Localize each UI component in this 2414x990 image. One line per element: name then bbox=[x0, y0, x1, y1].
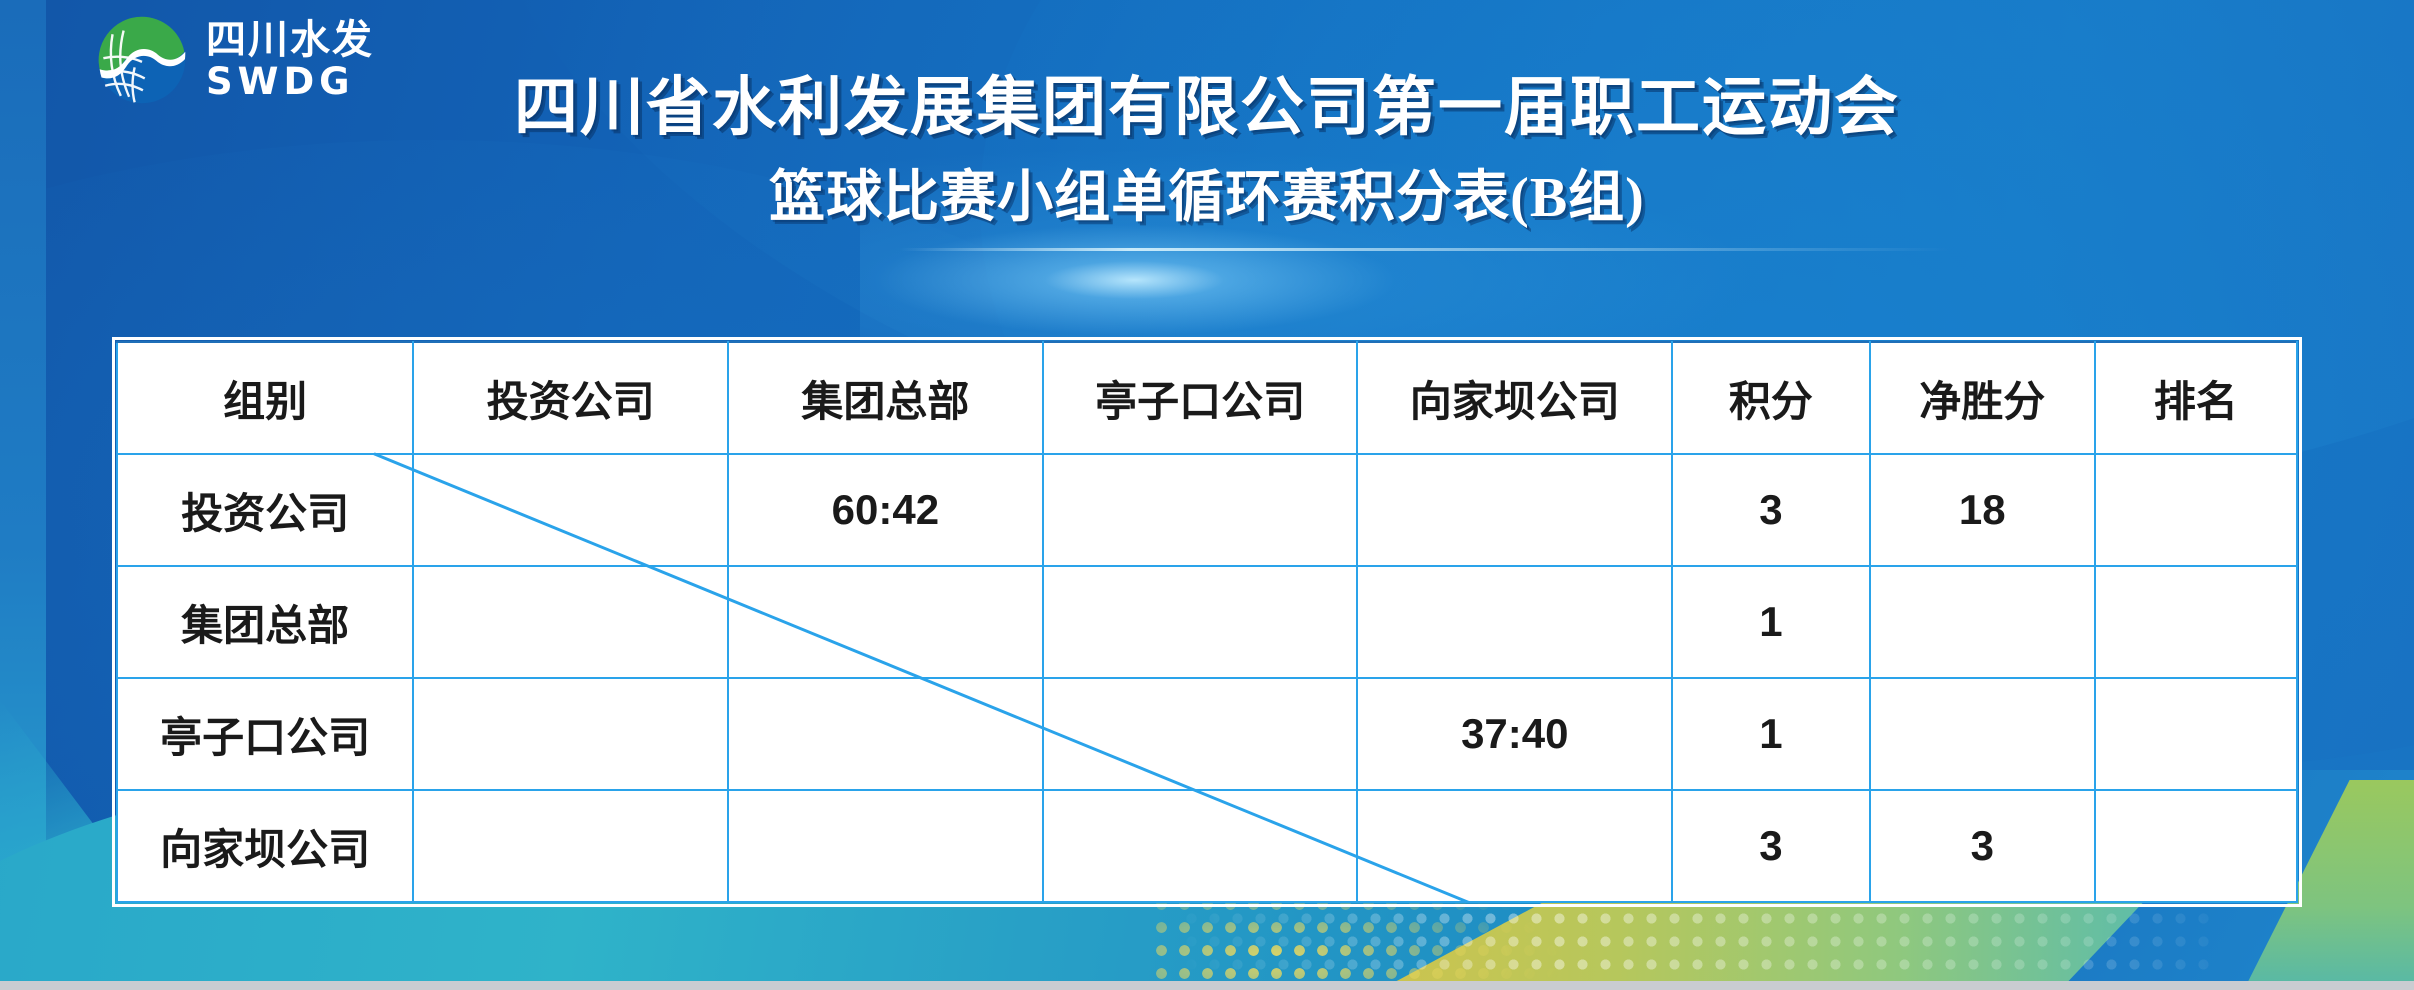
cell-rank bbox=[2095, 790, 2297, 902]
col-header-rank: 排名 bbox=[2095, 342, 2297, 454]
cell-vs-xiangjiaba bbox=[1357, 454, 1672, 566]
cell-vs-investment bbox=[413, 566, 728, 678]
cell-vs-hq bbox=[728, 790, 1043, 902]
table-header-row: 组别 投资公司 集团总部 亭子口公司 向家坝公司 积分 净胜分 排名 bbox=[117, 342, 2297, 454]
col-header-tingzikou: 亭子口公司 bbox=[1043, 342, 1358, 454]
cell-vs-tingzikou bbox=[1043, 454, 1358, 566]
logo-wordmark: 四川水发 SWDG bbox=[206, 20, 374, 101]
col-header-investment: 投资公司 bbox=[413, 342, 728, 454]
poster-stage: 四川水发 SWDG 四川省水利发展集团有限公司第一届职工运动会 篮球比赛小组单循… bbox=[0, 0, 2414, 990]
cell-vs-investment bbox=[413, 790, 728, 902]
row-group-name: 投资公司 bbox=[117, 454, 413, 566]
row-group-name: 向家坝公司 bbox=[117, 790, 413, 902]
col-header-points: 积分 bbox=[1672, 342, 1870, 454]
cell-vs-investment bbox=[413, 454, 728, 566]
cell-vs-hq bbox=[728, 566, 1043, 678]
cell-points: 1 bbox=[1672, 566, 1870, 678]
background-light-ray bbox=[900, 248, 1950, 251]
cell-vs-xiangjiaba: 37:40 bbox=[1357, 678, 1672, 790]
cell-point-diff: 3 bbox=[1870, 790, 2095, 902]
col-header-hq: 集团总部 bbox=[728, 342, 1043, 454]
company-logo: 四川水发 SWDG bbox=[96, 14, 374, 106]
table-row: 亭子口公司 37:40 1 bbox=[117, 678, 2297, 790]
cell-rank bbox=[2095, 566, 2297, 678]
table-row: 集团总部 1 bbox=[117, 566, 2297, 678]
cell-point-diff: 18 bbox=[1870, 454, 2095, 566]
bottom-rule bbox=[0, 981, 2414, 990]
standings-table: 组别 投资公司 集团总部 亭子口公司 向家坝公司 积分 净胜分 排名 投资公司 … bbox=[116, 341, 2298, 903]
table-row: 向家坝公司 3 3 bbox=[117, 790, 2297, 902]
poster-subtitle: 篮球比赛小组单循环赛积分表(B组) bbox=[0, 168, 2414, 230]
cell-vs-tingzikou bbox=[1043, 678, 1358, 790]
globe-wave-logo-icon bbox=[96, 14, 188, 106]
cell-point-diff bbox=[1870, 566, 2095, 678]
cell-vs-tingzikou bbox=[1043, 790, 1358, 902]
row-group-name: 亭子口公司 bbox=[117, 678, 413, 790]
cell-rank bbox=[2095, 454, 2297, 566]
cell-points: 1 bbox=[1672, 678, 1870, 790]
cell-points: 3 bbox=[1672, 454, 1870, 566]
cell-vs-xiangjiaba bbox=[1357, 566, 1672, 678]
cell-vs-investment bbox=[413, 678, 728, 790]
col-header-xiangjiaba: 向家坝公司 bbox=[1357, 342, 1672, 454]
cell-rank bbox=[2095, 678, 2297, 790]
col-header-group: 组别 bbox=[117, 342, 413, 454]
cell-vs-tingzikou bbox=[1043, 566, 1358, 678]
row-group-name: 集团总部 bbox=[117, 566, 413, 678]
cell-vs-hq: 60:42 bbox=[728, 454, 1043, 566]
table-row: 投资公司 60:42 3 18 bbox=[117, 454, 2297, 566]
cell-vs-hq bbox=[728, 678, 1043, 790]
cell-points: 3 bbox=[1672, 790, 1870, 902]
logo-chinese-name: 四川水发 bbox=[206, 20, 374, 61]
standings-table-container: 组别 投资公司 集团总部 亭子口公司 向家坝公司 积分 净胜分 排名 投资公司 … bbox=[116, 341, 2298, 903]
cell-vs-xiangjiaba bbox=[1357, 790, 1672, 902]
logo-english-name: SWDG bbox=[206, 63, 355, 101]
cell-point-diff bbox=[1870, 678, 2095, 790]
col-header-point-diff: 净胜分 bbox=[1870, 342, 2095, 454]
